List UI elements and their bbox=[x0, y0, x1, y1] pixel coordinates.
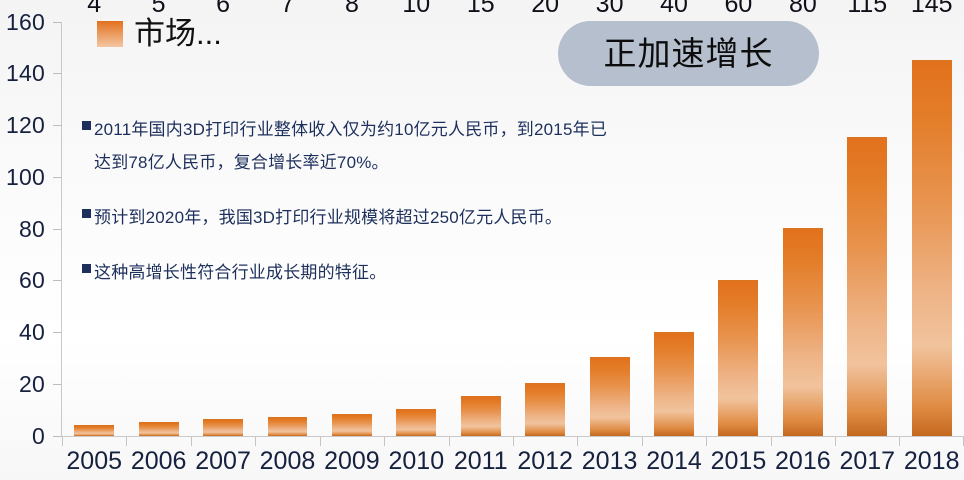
bar-value-label: 7 bbox=[255, 0, 319, 22]
bar-slot: 145 bbox=[899, 22, 963, 436]
x-axis-tick-label: 2005 bbox=[62, 449, 126, 474]
x-axis-tick-mark bbox=[899, 437, 900, 446]
x-axis-tick-label: 2017 bbox=[835, 449, 899, 474]
x-axis-tick-mark bbox=[513, 437, 514, 446]
bar[interactable]: 145 bbox=[912, 60, 952, 436]
y-axis-tick-label: 100 bbox=[6, 166, 53, 189]
y-axis-tick-label: 140 bbox=[6, 62, 53, 85]
bar[interactable]: 6 bbox=[203, 419, 243, 436]
x-axis-tick-label: 2016 bbox=[771, 449, 835, 474]
y-axis-tick-label: 60 bbox=[19, 269, 53, 292]
note-text: 2011年国内3D打印行业整体收入仅为约10亿元人民币，到2015年已达到78亿… bbox=[94, 113, 612, 179]
note-item: 这种高增长性符合行业成长期的特征。 bbox=[82, 256, 612, 289]
y-axis-tick-label: 20 bbox=[19, 373, 53, 396]
y-axis-tick-label: 80 bbox=[19, 218, 53, 241]
y-axis-tick-label: 160 bbox=[6, 11, 53, 34]
note-text: 预计到2020年，我国3D打印行业规模将超过250亿元人民币。 bbox=[94, 201, 562, 234]
x-axis-category: 2007 bbox=[191, 437, 255, 480]
x-axis-category: 2011 bbox=[449, 437, 513, 480]
x-axis-tick-label: 2018 bbox=[899, 449, 963, 474]
x-axis-category: 2010 bbox=[384, 437, 448, 480]
bullet-square-icon bbox=[82, 121, 91, 130]
x-axis-tick-mark bbox=[577, 437, 578, 446]
notes-block: 2011年国内3D打印行业整体收入仅为约10亿元人民币，到2015年已达到78亿… bbox=[82, 113, 612, 312]
x-axis-tick-label: 2009 bbox=[320, 449, 384, 474]
x-axis-tick-label: 2008 bbox=[255, 449, 319, 474]
x-axis-tick-mark bbox=[126, 437, 127, 446]
x-axis-category: 2016 bbox=[771, 437, 835, 480]
x-axis-tick-mark bbox=[706, 437, 707, 446]
bar-value-label: 60 bbox=[706, 0, 770, 22]
x-axis-tick-mark bbox=[384, 437, 385, 446]
x-axis-category: 2008 bbox=[255, 437, 319, 480]
x-axis-tick-mark bbox=[771, 437, 772, 446]
bar[interactable]: 80 bbox=[783, 228, 823, 436]
x-axis-tick-label: 2014 bbox=[642, 449, 706, 474]
x-axis-category: 2015 bbox=[706, 437, 770, 480]
x-axis-tick-label: 2012 bbox=[513, 449, 577, 474]
bar[interactable]: 30 bbox=[590, 357, 630, 436]
y-axis: 020406080100120140160 bbox=[0, 0, 62, 444]
x-axis-category: 2012 bbox=[513, 437, 577, 480]
x-axis-tick-mark bbox=[320, 437, 321, 446]
bar[interactable]: 20 bbox=[525, 383, 565, 436]
x-axis-category: 2009 bbox=[320, 437, 384, 480]
x-axis-category: 2006 bbox=[126, 437, 190, 480]
x-axis-tick-mark bbox=[835, 437, 836, 446]
y-axis-tick-label: 40 bbox=[19, 321, 53, 344]
y-axis-tick-label: 120 bbox=[6, 114, 53, 137]
x-axis: 2005200620072008200920102011201220132014… bbox=[62, 437, 964, 480]
bar-value-label: 20 bbox=[513, 0, 577, 22]
x-axis-tick-label: 2010 bbox=[384, 449, 448, 474]
x-axis-tick-mark bbox=[449, 437, 450, 446]
x-axis-tick-label: 2015 bbox=[706, 449, 770, 474]
x-axis-tick-mark bbox=[191, 437, 192, 446]
bar[interactable]: 60 bbox=[718, 280, 758, 436]
callout-label: 正加速增长 bbox=[604, 37, 774, 70]
bar[interactable]: 10 bbox=[396, 409, 436, 436]
legend-color-swatch-icon bbox=[97, 21, 123, 47]
bar-value-label: 30 bbox=[577, 0, 641, 22]
bar-value-label: 80 bbox=[771, 0, 835, 22]
note-text: 这种高增长性符合行业成长期的特征。 bbox=[94, 256, 386, 289]
callout-badge: 正加速增长 bbox=[558, 21, 819, 86]
bar[interactable]: 4 bbox=[74, 425, 114, 436]
bar[interactable]: 5 bbox=[139, 422, 179, 436]
x-axis-tick-label: 2006 bbox=[126, 449, 190, 474]
x-axis-tick-mark bbox=[642, 437, 643, 446]
bar-chart-slide: 020406080100120140160 456781015203040608… bbox=[0, 0, 964, 480]
x-axis-tick-mark bbox=[62, 437, 63, 446]
x-axis-category: 2013 bbox=[577, 437, 641, 480]
x-axis-tick-mark bbox=[255, 437, 256, 446]
bar[interactable]: 8 bbox=[332, 414, 372, 436]
bar-value-label: 10 bbox=[384, 0, 448, 22]
bar[interactable]: 7 bbox=[268, 417, 308, 436]
legend-series-label: 市场... bbox=[134, 18, 222, 49]
note-item: 预计到2020年，我国3D打印行业规模将超过250亿元人民币。 bbox=[82, 201, 612, 234]
bar-slot: 115 bbox=[835, 22, 899, 436]
bar-value-label: 145 bbox=[899, 0, 963, 22]
bar[interactable]: 15 bbox=[461, 396, 501, 436]
bar-value-label: 115 bbox=[835, 0, 899, 22]
note-item: 2011年国内3D打印行业整体收入仅为约10亿元人民币，到2015年已达到78亿… bbox=[82, 113, 612, 179]
bar[interactable]: 40 bbox=[654, 332, 694, 437]
x-axis-tick-label: 2007 bbox=[191, 449, 255, 474]
x-axis-category: 2018 bbox=[899, 437, 963, 480]
bullet-square-icon bbox=[82, 209, 91, 218]
chart-legend[interactable]: 市场... bbox=[97, 18, 222, 49]
x-axis-category: 2017 bbox=[835, 437, 899, 480]
bar[interactable]: 115 bbox=[847, 137, 887, 436]
x-axis-tick-label: 2011 bbox=[449, 449, 513, 474]
x-axis-category: 2005 bbox=[62, 437, 126, 480]
bar-value-label: 40 bbox=[642, 0, 706, 22]
bar-value-label: 15 bbox=[449, 0, 513, 22]
x-axis-category: 2014 bbox=[642, 437, 706, 480]
bullet-square-icon bbox=[82, 264, 91, 273]
y-axis-tick-label: 0 bbox=[32, 425, 53, 448]
x-axis-tick-label: 2013 bbox=[577, 449, 641, 474]
bar-value-label: 8 bbox=[320, 0, 384, 22]
